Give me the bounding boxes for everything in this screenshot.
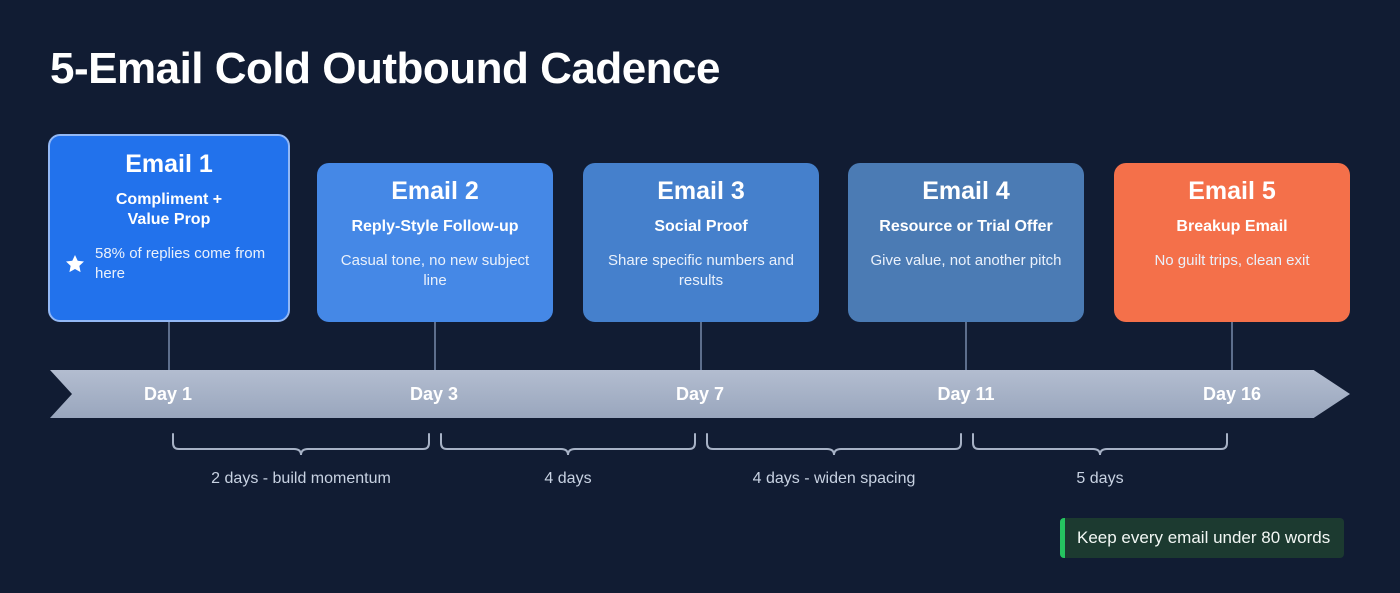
star-icon — [64, 253, 86, 275]
gap-label-1: 2 days - build momentum — [172, 470, 430, 488]
card-subtitle: Reply-Style Follow-up — [351, 217, 518, 237]
email-card-4[interactable]: Email 4 Resource or Trial Offer Give val… — [848, 163, 1084, 322]
card-subtitle: Resource or Trial Offer — [879, 217, 1052, 237]
card-description: No guilt trips, clean exit — [1154, 251, 1309, 271]
card-subtitle: Social Proof — [654, 217, 747, 237]
card-title: Email 5 — [1188, 177, 1276, 206]
email-card-2[interactable]: Email 2 Reply-Style Follow-up Casual ton… — [317, 163, 553, 322]
card-title: Email 1 — [125, 150, 213, 179]
diagram-canvas: 5-Email Cold Outbound Cadence Email 1 Co… — [0, 0, 1400, 593]
card-subtitle-line2: Value Prop — [128, 211, 211, 228]
gap-label-2: 4 days — [440, 470, 696, 488]
card-subtitle: Compliment + Value Prop — [116, 190, 222, 230]
gap-bracket-4 — [972, 432, 1228, 456]
card-connector-2 — [434, 322, 436, 370]
card-title: Email 3 — [657, 177, 745, 206]
card-description: 58% of replies come from here — [95, 244, 274, 285]
gap-bracket-1 — [172, 432, 430, 456]
gap-bracket-3 — [706, 432, 962, 456]
card-title: Email 2 — [391, 177, 479, 206]
card-subtitle-line1: Compliment + — [116, 191, 222, 208]
card-connector-4 — [965, 322, 967, 370]
timeline-day-5: Day 16 — [1180, 370, 1284, 418]
card-connector-3 — [700, 322, 702, 370]
card-highlight-row: 58% of replies come from here — [64, 244, 274, 285]
timeline-day-3: Day 7 — [650, 370, 750, 418]
timeline-arrow: Day 1 Day 3 Day 7 Day 11 Day 16 — [50, 370, 1350, 418]
gap-label-3: 4 days - widen spacing — [706, 470, 962, 488]
card-description: Give value, not another pitch — [871, 251, 1062, 271]
timeline-day-4: Day 11 — [914, 370, 1018, 418]
email-card-1[interactable]: Email 1 Compliment + Value Prop 58% of r… — [48, 134, 290, 322]
timeline-day-2: Day 3 — [384, 370, 484, 418]
email-card-5[interactable]: Email 5 Breakup Email No guilt trips, cl… — [1114, 163, 1350, 322]
card-description: Casual tone, no new subject line — [331, 251, 539, 292]
page-title: 5-Email Cold Outbound Cadence — [50, 44, 720, 94]
card-subtitle: Breakup Email — [1176, 217, 1287, 237]
card-description: Share specific numbers and results — [597, 251, 805, 292]
email-card-3[interactable]: Email 3 Social Proof Share specific numb… — [583, 163, 819, 322]
footer-tip-badge: Keep every email under 80 words — [1060, 518, 1344, 558]
card-title: Email 4 — [922, 177, 1010, 206]
gap-label-4: 5 days — [972, 470, 1228, 488]
gap-bracket-2 — [440, 432, 696, 456]
timeline-day-1: Day 1 — [118, 370, 218, 418]
footer-tip-text: Keep every email under 80 words — [1065, 518, 1344, 558]
card-connector-1 — [168, 322, 170, 370]
card-connector-5 — [1231, 322, 1233, 370]
